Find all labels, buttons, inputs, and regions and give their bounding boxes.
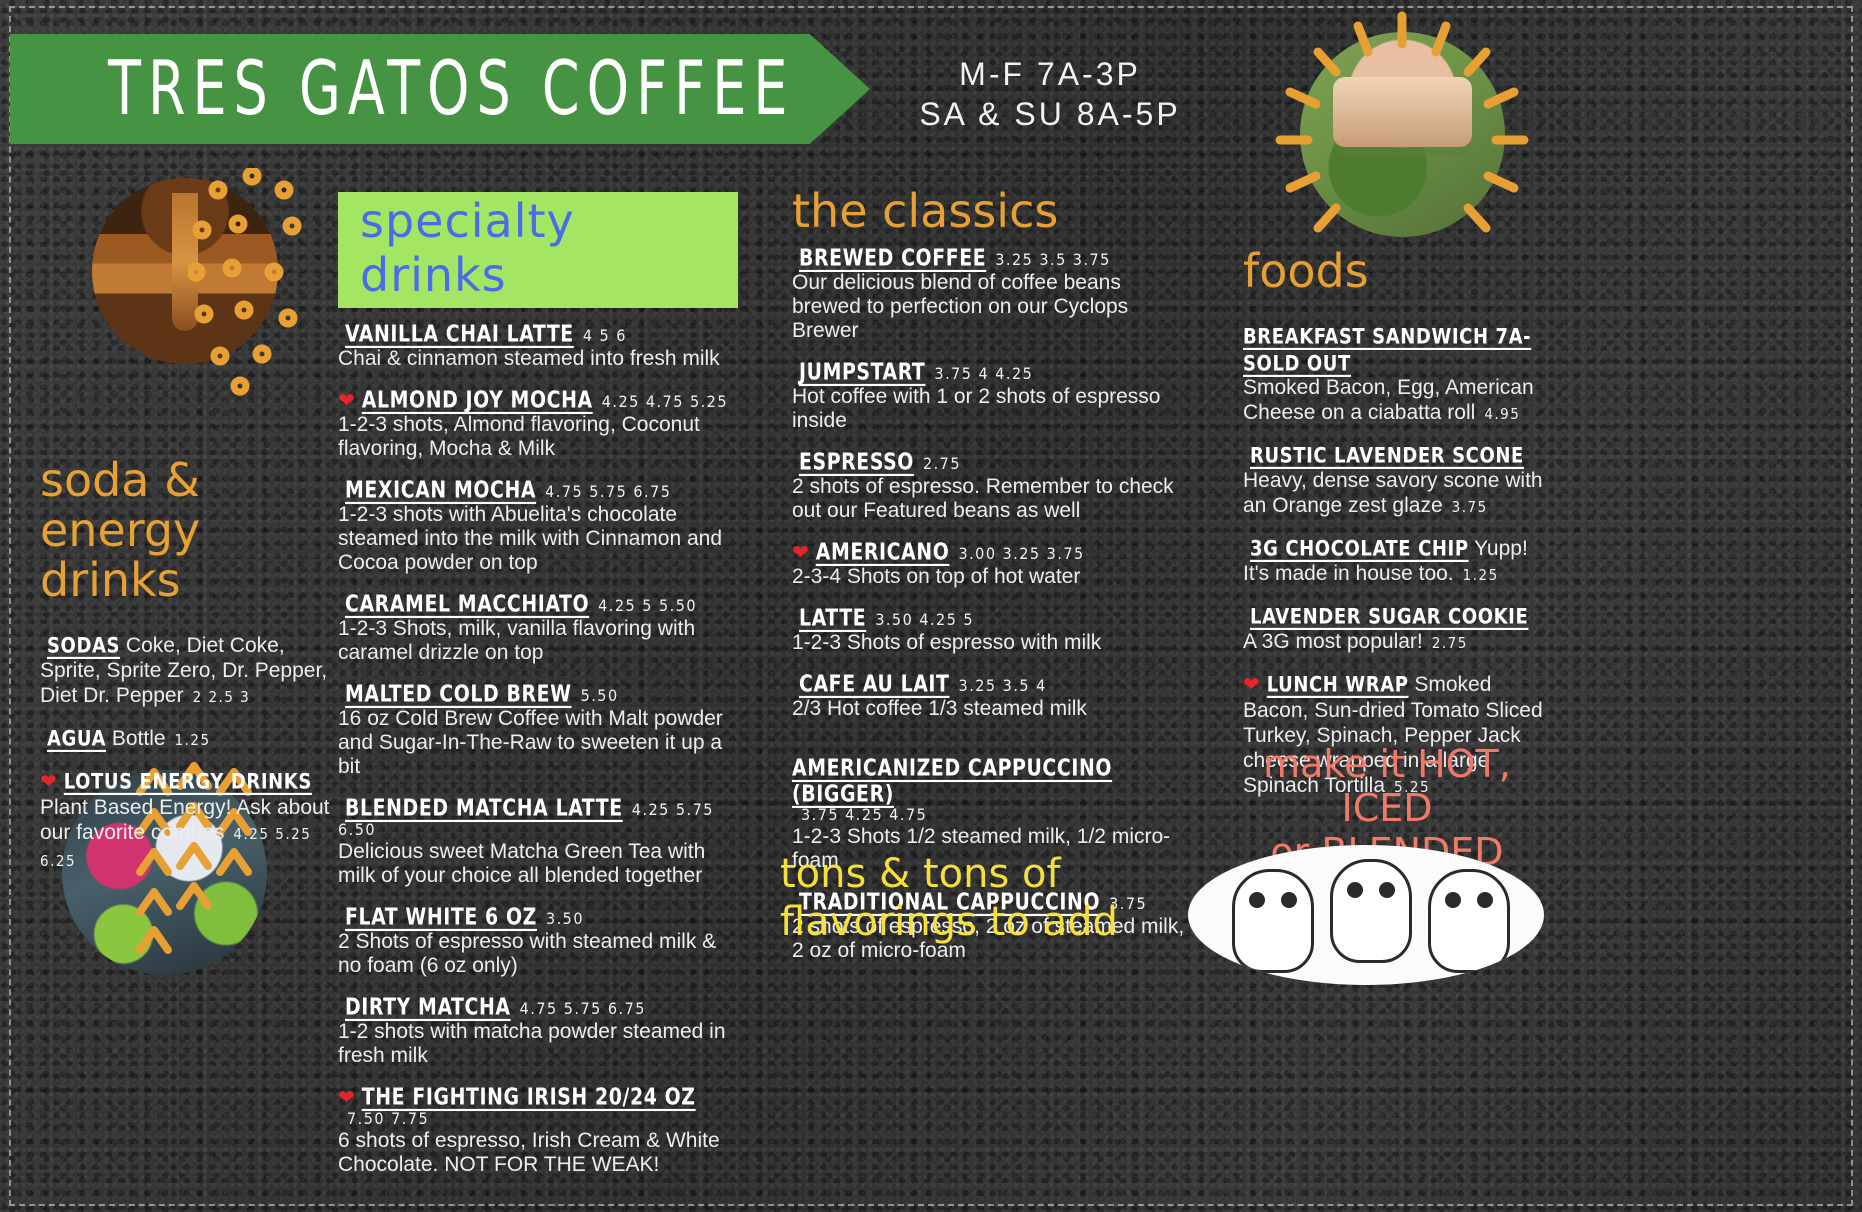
item-name: DIRTY MATCHA	[345, 994, 511, 1020]
menu-item[interactable]: CARAMEL MACCHIATO4.25 5 5.50 1-2-3 Shots…	[338, 592, 738, 665]
item-price: 3.25 3.5 3.75	[995, 250, 1111, 269]
item-price: 3.50 4.25 5	[875, 610, 974, 629]
item-name: 3G CHOCOLATE CHIP	[1250, 535, 1469, 562]
favorite-heart-icon: ❤	[338, 1085, 355, 1109]
item-price: 2.75	[923, 454, 961, 473]
cat-icon	[1232, 869, 1314, 973]
menu-item[interactable]: SODAS Coke, Diet Coke, Sprite, Sprite Ze…	[40, 633, 350, 710]
cat-icon	[1330, 859, 1412, 963]
menu-item[interactable]: AGUA Bottle1.25	[40, 726, 350, 753]
flavorings-promo-line1: tons & tons of	[780, 850, 1130, 898]
menu-item[interactable]: BREWED COFFEE3.25 3.5 3.75 Our delicious…	[792, 246, 1192, 343]
item-name: LATTE	[799, 605, 866, 631]
cat-icon	[1428, 869, 1510, 973]
item-price: 3.00 3.25 3.75	[958, 544, 1084, 563]
item-description: Heavy, dense savory scone with an Orange…	[1243, 469, 1543, 517]
menu-item[interactable]: ESPRESSO2.75 2 shots of espresso. Rememb…	[792, 450, 1192, 523]
item-price: 2 2.5 3	[193, 688, 251, 706]
item-name: SODAS	[47, 632, 120, 659]
item-price: 4.75 5.75 6.75	[545, 482, 671, 501]
three-cats-logo	[1188, 845, 1544, 985]
menu-item[interactable]: DIRTY MATCHA4.75 5.75 6.75 1-2 shots wit…	[338, 995, 738, 1068]
item-name: MEXICAN MOCHA	[345, 477, 536, 503]
specialty-section: specialty drinks VANILLA CHAI LATTE4 5 6…	[338, 192, 738, 1194]
item-description: Chai & cinnamon steamed into fresh milk	[338, 347, 738, 371]
menu-item[interactable]: ❤THE FIGHTING IRISH 20/24 OZ7.50 7.75 6 …	[338, 1085, 738, 1177]
item-price: 1.25	[1463, 566, 1499, 584]
hours-weekend: SA & SU 8A-5P	[880, 94, 1220, 134]
item-name: AMERICANIZED CAPPUCCINO (BIGGER)	[792, 755, 1192, 807]
item-name: AGUA	[47, 725, 106, 752]
item-description: A 3G most popular!	[1243, 630, 1423, 653]
item-name: FLAT WHITE 6 OZ	[345, 904, 537, 930]
item-description: Bottle	[112, 727, 166, 750]
item-name: AMERICANO	[816, 539, 950, 565]
item-price: 3.75 4.25 4.75	[801, 805, 927, 824]
classics-section-heading: the classics	[792, 186, 1192, 236]
soda-section: soda & energy drinks SODAS Coke, Diet Co…	[40, 455, 350, 890]
item-price: 4 5 6	[583, 326, 627, 345]
menu-item[interactable]: MALTED COLD BREW5.50 16 oz Cold Brew Cof…	[338, 682, 738, 779]
item-name: BLENDED MATCHA LATTE	[345, 795, 623, 821]
soda-section-heading: soda & energy drinks	[40, 455, 350, 605]
favorite-heart-icon: ❤	[40, 770, 57, 795]
item-description: 2 Shots of espresso with steamed milk & …	[338, 930, 738, 978]
item-price: 3.50	[546, 909, 584, 928]
item-name: LUNCH WRAP	[1267, 671, 1409, 698]
menu-item[interactable]: LAVENDER SUGAR COOKIE A 3G most popular!…	[1243, 604, 1543, 656]
item-price: 3.75 4 4.25	[934, 364, 1033, 383]
item-description: 1-2-3 shots with Abuelita's chocolate st…	[338, 503, 738, 575]
item-description: Hot coffee with 1 or 2 shots of espresso…	[792, 385, 1192, 433]
item-description: 1-2-3 shots, Almond flavoring, Coconut f…	[338, 413, 738, 461]
item-name: ESPRESSO	[799, 449, 914, 475]
foods-section-heading: foods	[1243, 246, 1543, 296]
item-price: 4.25 5 5.50	[598, 596, 697, 615]
item-price: 5.50	[581, 686, 619, 705]
header-ribbon: TRES GATOS COFFEE	[10, 34, 870, 144]
menu-item[interactable]: RUSTIC LAVENDER SCONE Heavy, dense savor…	[1243, 443, 1543, 520]
menu-item[interactable]: ❤LOTUS ENERGY DRINKS Plant Based Energy!…	[40, 769, 350, 874]
item-price: 4.75 5.75 6.75	[520, 999, 646, 1018]
item-name: LAVENDER SUGAR COOKIE	[1250, 603, 1528, 630]
item-price: 3.25 3.5 4	[959, 676, 1047, 695]
hours-weekday: M-F 7A-3P	[880, 54, 1220, 94]
item-description: 6 shots of espresso, Irish Cream & White…	[338, 1129, 738, 1177]
item-description: 1-2-3 Shots, milk, vanilla flavoring wit…	[338, 617, 738, 665]
item-description: 2/3 Hot coffee 1/3 steamed milk	[792, 697, 1192, 721]
foods-section: foods BREAKFAST SANDWICH 7A-SOLD OUT Smo…	[1243, 246, 1543, 816]
item-price: 2.75	[1432, 634, 1468, 652]
item-description: 1-2 shots with matcha powder steamed in …	[338, 1020, 738, 1068]
menu-item[interactable]: LATTE3.50 4.25 5 1-2-3 Shots of espresso…	[792, 606, 1192, 655]
item-name: RUSTIC LAVENDER SCONE	[1250, 442, 1524, 469]
menu-item[interactable]: CAFE AU LAIT3.25 3.5 4 2/3 Hot coffee 1/…	[792, 672, 1192, 721]
item-description: Our delicious blend of coffee beans brew…	[792, 271, 1192, 343]
menu-item[interactable]: BREAKFAST SANDWICH 7A-SOLD OUT Smoked Ba…	[1243, 300, 1543, 427]
shop-name: TRES GATOS COFFEE	[10, 45, 794, 133]
flavorings-promo-line2: flavorings to add	[780, 898, 1130, 946]
menu-item[interactable]: JUMPSTART3.75 4 4.25 Hot coffee with 1 o…	[792, 360, 1192, 433]
item-name: THE FIGHTING IRISH 20/24 OZ	[362, 1084, 696, 1110]
item-description: Delicious sweet Matcha Green Tea with mi…	[338, 840, 738, 888]
item-name: BREAKFAST SANDWICH 7A-SOLD OUT	[1243, 323, 1543, 377]
item-description: 2 shots of espresso. Remember to check o…	[792, 475, 1192, 523]
hot-iced-promo-line1: make it HOT, ICED	[1222, 742, 1552, 830]
menu-item[interactable]: BLENDED MATCHA LATTE4.25 5.75 6.50 Delic…	[338, 796, 738, 888]
item-name: LOTUS ENERGY DRINKS	[64, 768, 312, 795]
menu-item[interactable]: VANILLA CHAI LATTE4 5 6 Chai & cinnamon …	[338, 322, 738, 371]
item-name: ALMOND JOY MOCHA	[362, 387, 593, 413]
item-price: 4.25 4.75 5.25	[602, 392, 728, 411]
specialty-section-heading: specialty drinks	[338, 192, 738, 308]
item-name: BREWED COFFEE	[799, 245, 986, 271]
item-price: 7.50 7.75	[347, 1109, 429, 1128]
menu-item[interactable]: MEXICAN MOCHA4.75 5.75 6.75 1-2-3 shots …	[338, 478, 738, 575]
item-price: 4.95	[1484, 405, 1520, 423]
menu-item[interactable]: FLAT WHITE 6 OZ3.50 2 Shots of espresso …	[338, 905, 738, 978]
item-description: 1-2-3 Shots of espresso with milk	[792, 631, 1192, 655]
menu-item[interactable]: 3G CHOCOLATE CHIP Yupp! It's made in hou…	[1243, 536, 1543, 588]
item-name: JUMPSTART	[799, 359, 925, 385]
item-name: CARAMEL MACCHIATO	[345, 591, 589, 617]
hours-block: M-F 7A-3P SA & SU 8A-5P	[880, 54, 1220, 134]
menu-board: TRES GATOS COFFEE M-F 7A-3P SA & SU 8A-5…	[0, 0, 1862, 1212]
favorite-heart-icon: ❤	[338, 388, 355, 412]
menu-item[interactable]: ❤AMERICANO3.00 3.25 3.75 2-3-4 Shots on …	[792, 540, 1192, 589]
coffee-pour-photo	[92, 178, 278, 364]
item-name: VANILLA CHAI LATTE	[345, 321, 574, 347]
item-name: CAFE AU LAIT	[799, 671, 950, 697]
favorite-heart-icon: ❤	[1243, 673, 1260, 698]
item-description: 16 oz Cold Brew Coffee with Malt powder …	[338, 707, 738, 779]
menu-item[interactable]: ❤ALMOND JOY MOCHA4.25 4.75 5.25 1-2-3 sh…	[338, 388, 738, 461]
item-description: 2-3-4 Shots on top of hot water	[792, 565, 1192, 589]
soda-heading-line2: drinks	[40, 555, 350, 605]
item-price: 1.25	[175, 731, 211, 749]
soda-heading-line1: soda & energy	[40, 455, 350, 555]
lunch-wrap-photo	[1300, 32, 1505, 237]
item-name: MALTED COLD BREW	[345, 681, 572, 707]
favorite-heart-icon: ❤	[792, 540, 809, 564]
item-price: 3.75	[1452, 498, 1488, 516]
flavorings-promo: tons & tons of flavorings to add	[780, 850, 1130, 946]
